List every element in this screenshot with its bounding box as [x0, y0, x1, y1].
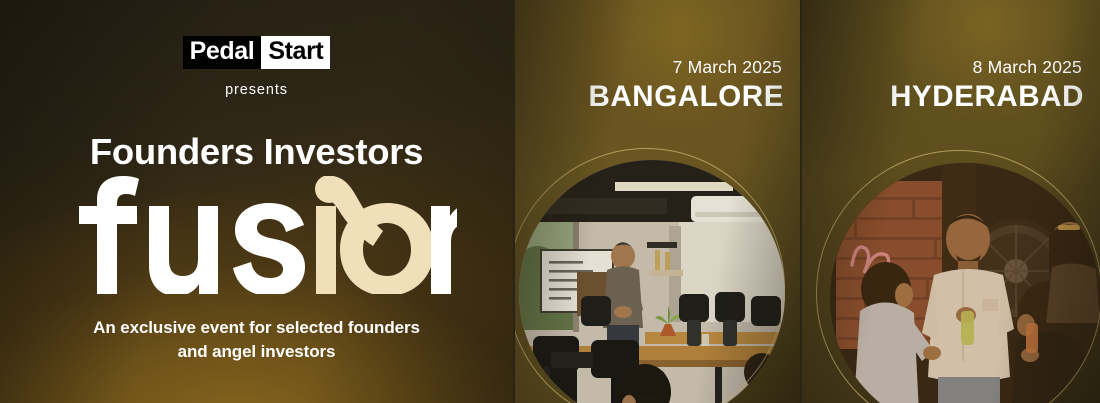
- fusion-letter-s: [233, 203, 305, 294]
- hyderabad-city-name: HYDERABAD: [890, 80, 1084, 114]
- subtitle-line-2: and angel investors: [0, 340, 513, 365]
- hyderabad-photo-svg: [830, 163, 1100, 403]
- subtitle-line-1: An exclusive event for selected founders: [0, 316, 513, 341]
- fusion-letter-n: [431, 203, 457, 294]
- city-panel-hyderabad[interactable]: 8 March 2025 HYDERABAD: [802, 0, 1100, 403]
- presents-label: presents: [0, 82, 513, 98]
- event-subtitle: An exclusive event for selected founders…: [0, 316, 513, 365]
- fusion-letter-i-stem: [316, 206, 336, 294]
- fusion-wordmark: [0, 176, 513, 298]
- fusion-letter-o: [340, 203, 434, 294]
- fusion-i-dot: [315, 176, 343, 203]
- fusion-io-ligature: [315, 176, 434, 294]
- city-panel-bangalore[interactable]: 7 March 2025 BANGALORE: [515, 0, 800, 403]
- bangalore-city-name: BANGALORE: [588, 80, 784, 114]
- pedalstart-logo[interactable]: Pedal Start: [0, 36, 513, 69]
- title-panel: Pedal Start presents Founders Investors: [0, 0, 513, 403]
- hyderabad-date: 8 March 2025: [973, 57, 1082, 78]
- fusion-letter-f: [79, 176, 139, 294]
- hyderabad-photo: [830, 163, 1100, 403]
- bangalore-photo-svg: [519, 160, 785, 403]
- bangalore-date: 7 March 2025: [673, 57, 782, 78]
- fusion-letter-u: [149, 206, 218, 294]
- headline-text: Founders Investors: [0, 131, 513, 173]
- fusion-wordmark-svg: [57, 176, 457, 294]
- logo-start-block: Start: [261, 36, 330, 69]
- bangalore-photo: [519, 160, 785, 403]
- event-banner: Pedal Start presents Founders Investors: [0, 0, 1100, 403]
- logo-pedal-block: Pedal: [183, 36, 262, 69]
